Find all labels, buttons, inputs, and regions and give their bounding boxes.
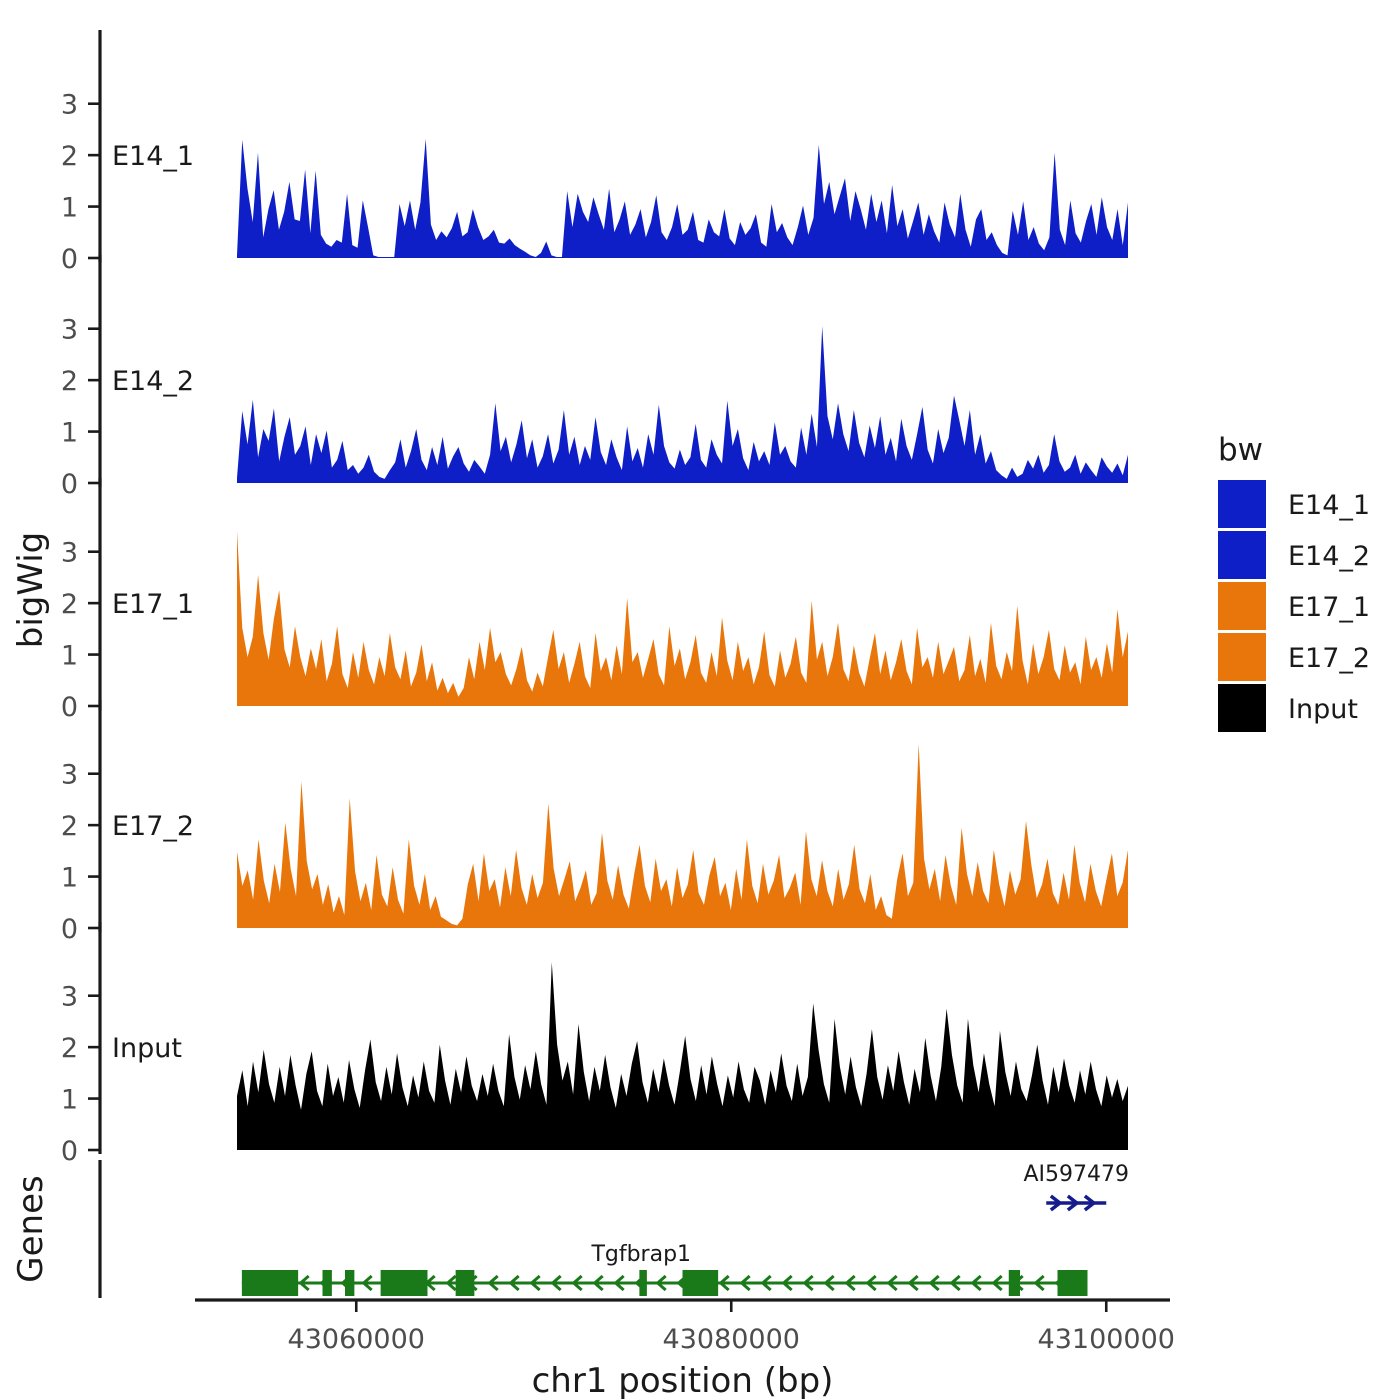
y-tick-label: 0 — [61, 469, 78, 500]
gene-exon — [639, 1270, 647, 1296]
bigwig-axis-title: bigWig — [11, 532, 51, 649]
signal-area-e17_1 — [237, 531, 1128, 706]
legend-swatch — [1218, 582, 1266, 630]
y-tick-label: 1 — [61, 193, 78, 224]
panel-label-e17_2: E17_2 — [112, 811, 194, 842]
legend-label: E17_2 — [1288, 643, 1370, 674]
signal-area-e14_2 — [237, 326, 1128, 483]
legend-label: E17_1 — [1288, 592, 1370, 623]
legend-item-e14_1[interactable]: E14_1 — [1218, 480, 1370, 528]
y-tick-label: 3 — [61, 315, 78, 346]
gene-label-tgfbrap1: Tgfbrap1 — [590, 1242, 691, 1267]
y-tick-label: 1 — [61, 863, 78, 894]
signal-panel-e14_2: 0123E14_2 — [61, 255, 1128, 500]
legend-swatch — [1218, 531, 1266, 579]
figure-canvas: 0123E14_10123E14_20123E17_10123E17_20123… — [0, 0, 1400, 1400]
y-tick-label: 2 — [61, 366, 78, 397]
gene-exon — [1058, 1270, 1088, 1296]
gene-model-ai597479[interactable]: AI597479 — [1023, 1162, 1129, 1210]
legend-swatch — [1218, 480, 1266, 528]
x-tick-label: 43080000 — [663, 1324, 800, 1355]
legend-item-e14_2[interactable]: E14_2 — [1218, 531, 1370, 579]
y-tick-label: 1 — [61, 641, 78, 672]
y-tick-label: 3 — [61, 538, 78, 569]
gene-model-tgfbrap1[interactable]: Tgfbrap1 — [242, 1242, 1088, 1296]
y-tick-label: 1 — [61, 1085, 78, 1116]
legend-label: E14_2 — [1288, 541, 1370, 572]
x-tick-label: 43060000 — [288, 1324, 425, 1355]
gene-exon — [1009, 1270, 1020, 1296]
panel-label-e14_1: E14_1 — [112, 141, 194, 172]
y-tick-label: 0 — [61, 244, 78, 275]
y-tick-label: 2 — [61, 141, 78, 172]
y-tick-label: 2 — [61, 811, 78, 842]
y-tick-label: 3 — [61, 90, 78, 121]
signal-panel-input: 0123Input — [61, 922, 1128, 1167]
signal-panel-e17_1: 0123E17_1 — [61, 478, 1128, 723]
signal-area-input — [237, 962, 1128, 1150]
y-tick-label: 2 — [61, 1033, 78, 1064]
legend-item-e17_1[interactable]: E17_1 — [1218, 582, 1370, 630]
signal-panel-e17_2: 0123E17_2 — [61, 700, 1128, 945]
x-axis-title: chr1 position (bp) — [532, 1361, 834, 1400]
legend-item-input[interactable]: Input — [1218, 684, 1358, 732]
y-tick-label: 0 — [61, 692, 78, 723]
y-tick-label: 2 — [61, 589, 78, 620]
y-tick-label: 1 — [61, 418, 78, 449]
gene-label-ai597479: AI597479 — [1023, 1162, 1129, 1187]
y-tick-label: 0 — [61, 1136, 78, 1167]
x-tick-label: 43100000 — [1038, 1324, 1175, 1355]
gene-exon — [683, 1270, 719, 1296]
signal-area-e14_1 — [237, 139, 1128, 258]
gene-exon — [345, 1270, 354, 1296]
legend-title: bw — [1218, 432, 1263, 468]
bigwig-genome-browser-figure: 0123E14_10123E14_20123E17_10123E17_20123… — [0, 0, 1400, 1400]
genes-axis-title: Genes — [11, 1175, 51, 1282]
panel-label-e17_1: E17_1 — [112, 589, 194, 620]
signal-area-e17_2 — [237, 744, 1128, 928]
gene-exon — [323, 1270, 332, 1296]
gene-exon — [242, 1270, 298, 1296]
legend-label: E14_1 — [1288, 490, 1370, 521]
panel-label-e14_2: E14_2 — [112, 366, 194, 397]
legend-label: Input — [1288, 694, 1358, 725]
panel-label-input: Input — [112, 1033, 182, 1064]
signal-panel-e14_1: 0123E14_1 — [61, 30, 1128, 275]
gene-exon — [456, 1270, 475, 1296]
y-tick-label: 0 — [61, 914, 78, 945]
gene-exon — [381, 1270, 428, 1296]
legend-swatch — [1218, 633, 1266, 681]
y-tick-label: 3 — [61, 760, 78, 791]
legend-item-e17_2[interactable]: E17_2 — [1218, 633, 1370, 681]
y-tick-label: 3 — [61, 982, 78, 1013]
legend-swatch — [1218, 684, 1266, 732]
